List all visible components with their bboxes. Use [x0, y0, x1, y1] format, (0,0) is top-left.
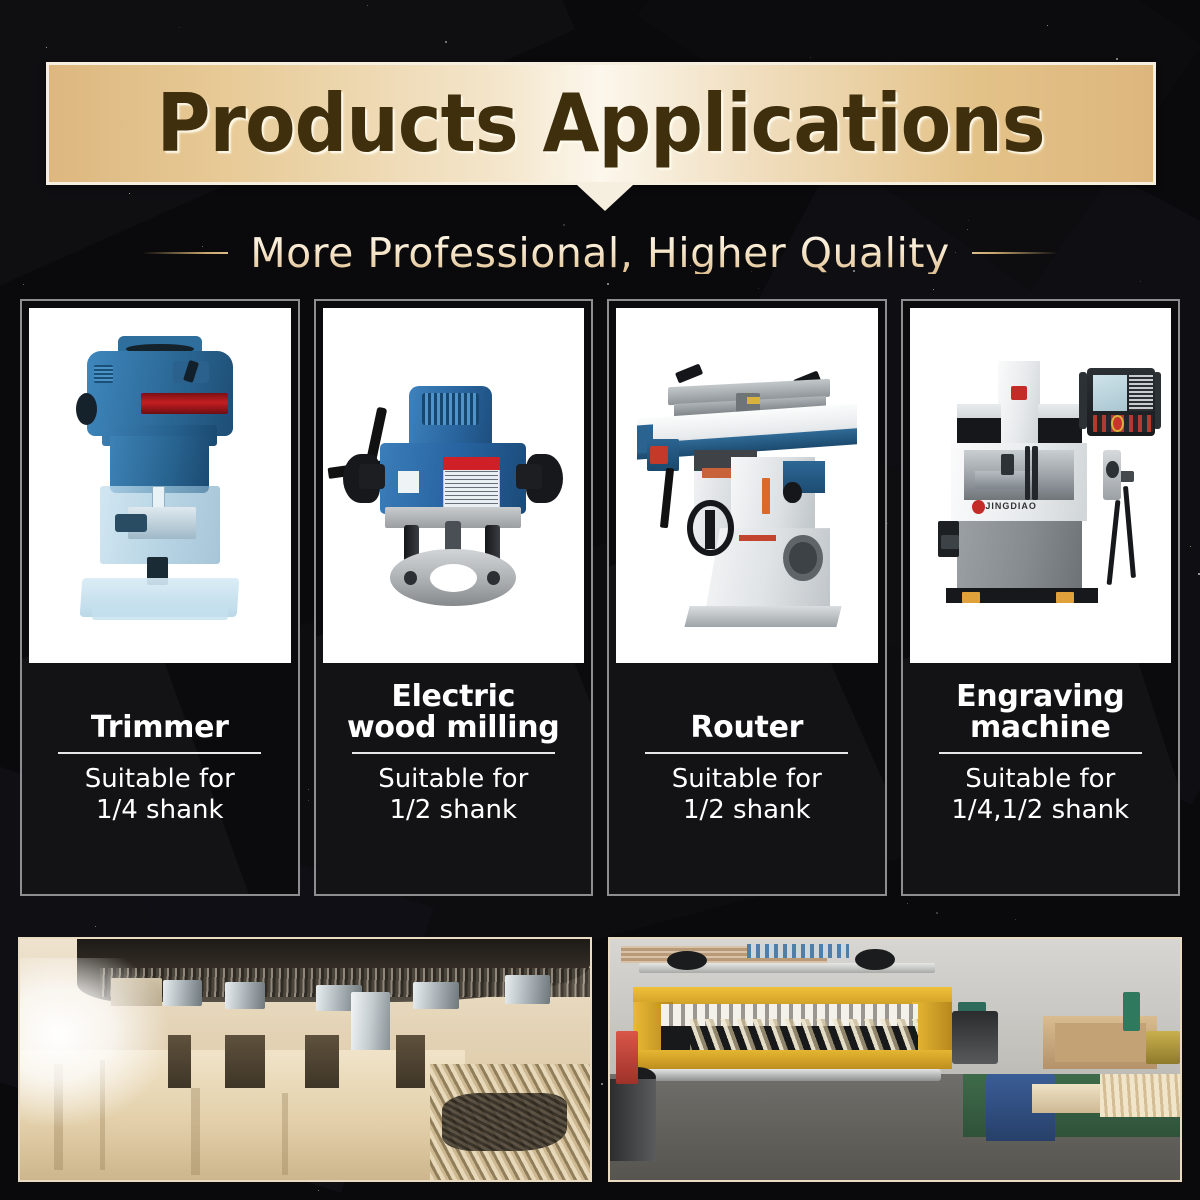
drill-tool — [952, 1011, 998, 1064]
cut-slot — [168, 1035, 191, 1088]
cnc-door-handle — [1025, 446, 1030, 499]
shaper-base-foot — [684, 606, 841, 627]
router-base-screw — [404, 571, 417, 585]
wood-grain — [191, 1088, 200, 1175]
card-body: Engraving machine Suitable for 1/4,1/2 s… — [903, 663, 1179, 894]
card-body: Trimmer Suitable for 1/4 shank — [22, 663, 298, 894]
cnc-side-fixture-arm — [941, 535, 959, 549]
router-handle-right-stem — [516, 464, 542, 489]
cnc-keypad — [1129, 375, 1153, 411]
electric-wood-milling-photo — [323, 308, 585, 663]
cnc-foot — [1056, 592, 1074, 603]
card-description: Suitable for 1/4,1/2 shank — [951, 764, 1129, 825]
cnc-door-handle — [1032, 446, 1037, 499]
subtitle-rule-right — [972, 252, 1058, 254]
product-card-grid: Trimmer Suitable for 1/4 shank — [20, 299, 1180, 896]
title-banner: Products Applications — [46, 62, 1156, 185]
card-divider — [58, 752, 261, 754]
trimmer-photo — [29, 308, 291, 663]
cut-slot — [225, 1035, 265, 1088]
router-bit — [163, 980, 203, 1007]
red-handle-tool — [616, 1031, 639, 1084]
jointed-wood-sample — [1100, 1074, 1180, 1117]
card-divider — [352, 752, 555, 754]
card-description: Suitable for 1/2 shank — [378, 764, 528, 825]
banner-notch-icon — [577, 185, 633, 211]
card-body: Electric wood milling Suitable for 1/2 s… — [316, 663, 592, 894]
router-bit — [225, 982, 265, 1009]
bench-clamp — [610, 1079, 656, 1161]
cnc-emergency-stop-icon — [1111, 415, 1124, 433]
router-handle-left-stem — [359, 464, 385, 489]
jig-lead-screw — [644, 1069, 940, 1081]
cut-slot — [305, 1035, 339, 1088]
router-table-photo — [616, 308, 878, 663]
router-bit — [505, 975, 551, 1004]
engraving-machine-photo: JINGDIAO — [910, 308, 1172, 663]
title-banner-inner: Products Applications — [49, 65, 1153, 182]
cnc-foot — [962, 592, 980, 603]
product-card-electric-wood-milling[interactable]: Electric wood milling Suitable for 1/2 s… — [314, 299, 594, 896]
router-base-opening — [430, 564, 477, 592]
trimmer-side-knob — [76, 393, 97, 425]
jig-knob — [855, 949, 895, 971]
cnc-pendant-cable — [1106, 500, 1120, 585]
cnc-column-logo — [1011, 386, 1027, 400]
jig-bottom-frame — [633, 1050, 952, 1069]
page-title: Products Applications — [157, 84, 1045, 164]
cnc-pendant-dial — [1106, 461, 1119, 479]
router-vent-slots — [422, 393, 480, 425]
shaper-fence-lever — [675, 364, 703, 384]
photo-workshop-jig — [608, 937, 1182, 1182]
cnc-panel-arm — [1079, 372, 1087, 429]
card-divider — [645, 752, 848, 754]
card-description: Suitable for 1/2 shank — [672, 764, 822, 825]
page-subtitle: More Professional, Higher Quality — [250, 233, 950, 274]
cnc-base-cabinet — [957, 521, 1083, 592]
subtitle-rule-left — [142, 252, 228, 254]
product-card-engraving-machine[interactable]: JINGDIAO Engrav — [901, 299, 1181, 896]
trimmer-base-plate — [92, 603, 228, 621]
photo-router-bits-cutting-wood — [18, 937, 592, 1182]
dark-debris — [442, 1093, 567, 1151]
card-body: Router Suitable for 1/2 shank — [609, 663, 885, 894]
shaper-orange-lever — [762, 478, 770, 514]
router-bit — [413, 982, 459, 1009]
router-side-plate — [398, 471, 419, 492]
cnc-brand-text: JINGDIAO — [985, 501, 1037, 515]
cut-slot — [396, 1035, 425, 1088]
shaper-fence-marker — [747, 397, 760, 404]
trimmer-brand-label — [141, 393, 227, 414]
router-label-text-lines — [445, 471, 497, 507]
photo-highlight — [18, 958, 168, 1127]
shaper-power-cord — [660, 468, 674, 529]
hanging-tool — [1123, 992, 1140, 1031]
product-card-router[interactable]: Router Suitable for 1/2 shank — [607, 299, 887, 896]
card-title: Trimmer — [91, 675, 229, 745]
shelf-items — [747, 944, 850, 958]
trimmer-barrel — [110, 436, 209, 493]
product-card-trimmer[interactable]: Trimmer Suitable for 1/4 shank — [20, 299, 300, 896]
shaper-handwheel-spoke — [705, 510, 715, 549]
card-title: Electric wood milling — [347, 675, 559, 745]
glue-container — [1146, 1031, 1180, 1065]
cnc-control-screen — [1093, 375, 1127, 411]
card-title: Engraving machine — [956, 675, 1124, 745]
trimmer-vent — [94, 365, 112, 383]
shaper-stop-button — [650, 446, 668, 464]
bottom-photo-row — [18, 937, 1182, 1182]
cnc-spindle — [1001, 454, 1014, 475]
subtitle-row: More Professional, Higher Quality — [0, 222, 1200, 284]
cnc-pendant-cable — [1123, 485, 1136, 577]
card-divider — [939, 752, 1142, 754]
card-title: Router — [690, 675, 803, 745]
cnc-cable-hook — [1119, 471, 1135, 482]
wood-grain — [282, 1093, 288, 1175]
router-label-red-band — [443, 457, 501, 469]
shaper-red-stripe — [739, 535, 776, 540]
shaper-knob — [783, 482, 801, 503]
card-description: Suitable for 1/4 shank — [85, 764, 235, 825]
trimmer-adjust-knob — [115, 514, 146, 532]
